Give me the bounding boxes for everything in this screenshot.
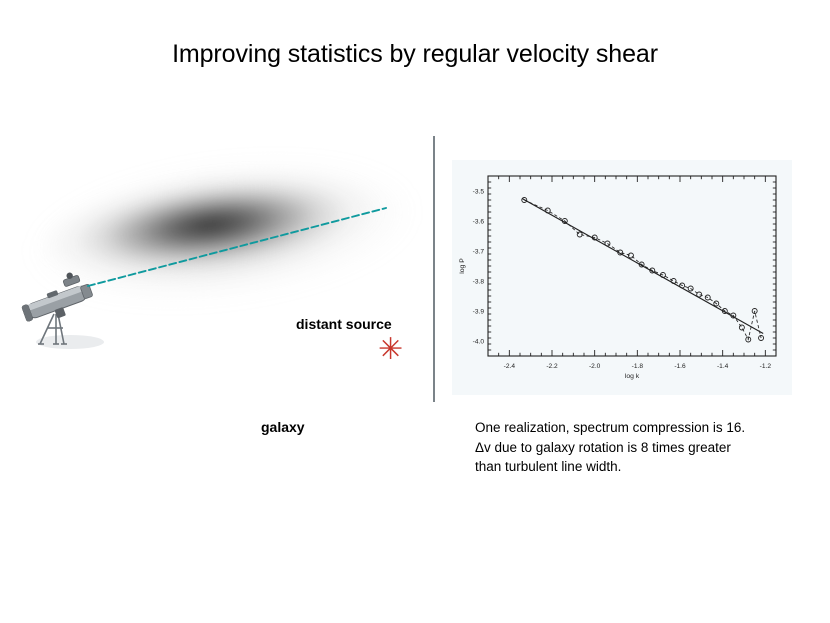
vertical-divider <box>433 136 435 402</box>
plot-caption: One realization, spectrum compression is… <box>475 418 815 477</box>
caption-line-1: One realization, spectrum compression is… <box>475 418 815 438</box>
svg-text:-2.4: -2.4 <box>504 363 516 370</box>
label-galaxy: galaxy <box>261 419 305 435</box>
svg-text:-1.8: -1.8 <box>632 363 644 370</box>
svg-text:-3.6: -3.6 <box>473 218 485 225</box>
svg-text:-2.2: -2.2 <box>546 363 558 370</box>
power-spectrum-plot: -2.4-2.2-2.0-1.8-1.6-1.4-1.2-3.5-3.6-3.7… <box>452 160 792 395</box>
svg-text:log P: log P <box>459 258 466 274</box>
label-distant-source: distant source <box>296 316 392 332</box>
svg-text:-3.9: -3.9 <box>473 308 485 315</box>
svg-text:-1.6: -1.6 <box>674 363 686 370</box>
svg-text:-2.0: -2.0 <box>589 363 601 370</box>
caption-line-2: Δv due to galaxy rotation is 8 times gre… <box>475 438 815 458</box>
svg-text:-3.5: -3.5 <box>473 188 485 195</box>
light-beam <box>0 140 430 400</box>
svg-text:log k: log k <box>625 373 640 380</box>
galaxy-diagram: ✳ distant source galaxy <box>0 140 430 400</box>
svg-text:-1.2: -1.2 <box>760 363 772 370</box>
page-title: Improving statistics by regular velocity… <box>0 40 830 69</box>
svg-text:-4.0: -4.0 <box>473 338 485 345</box>
caption-line-3: than turbulent line width. <box>475 457 815 477</box>
svg-text:-3.7: -3.7 <box>473 248 485 255</box>
slide-root: Improving statistics by regular velocity… <box>0 0 830 623</box>
distant-source-star-icon: ✳ <box>378 335 403 365</box>
svg-text:-1.4: -1.4 <box>717 363 729 370</box>
svg-text:-3.8: -3.8 <box>473 278 485 285</box>
